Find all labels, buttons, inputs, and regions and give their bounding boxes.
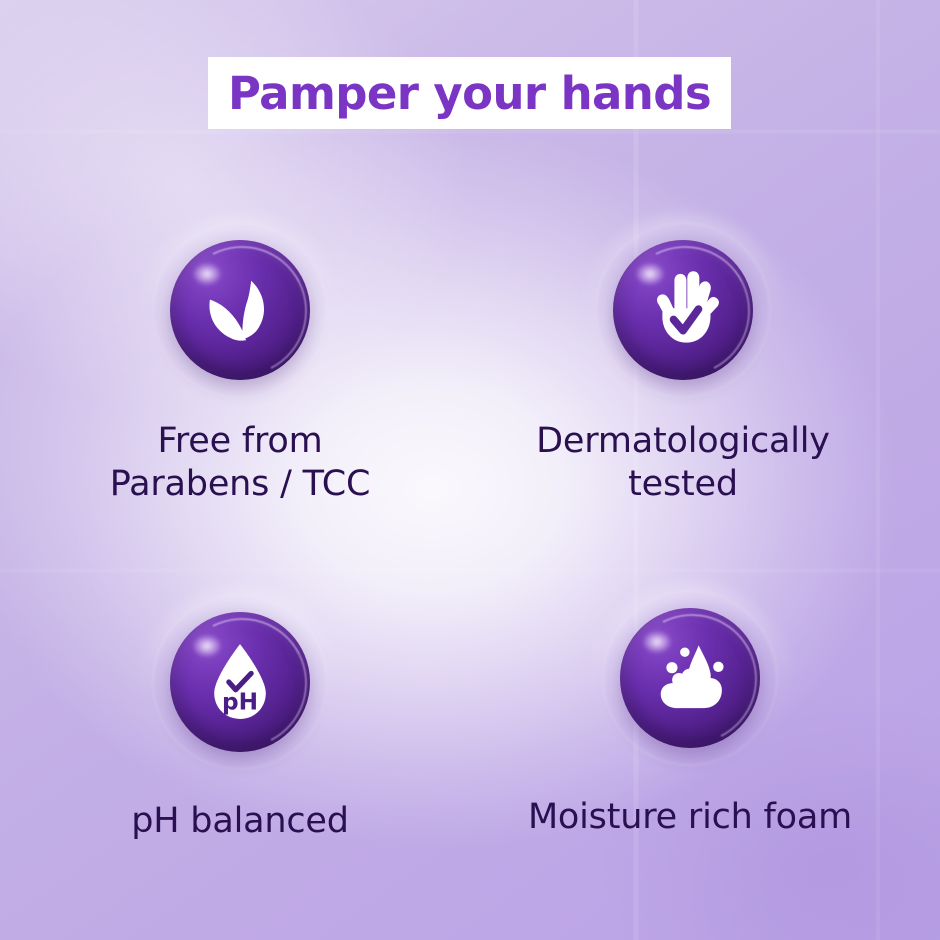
icon-bubble xyxy=(152,222,328,398)
feature-label: pH balanced xyxy=(131,800,348,843)
icon-sphere xyxy=(620,608,760,748)
feature-label: Free from Parabens / TCC xyxy=(110,420,370,505)
icon-sphere xyxy=(613,240,753,380)
feature-item-free-from-parabens: Free from Parabens / TCC xyxy=(25,222,455,505)
poster-canvas: Pamper your hands Free from Parabens / T… xyxy=(0,0,940,940)
icon-sphere: pH xyxy=(170,612,310,752)
icon-bubble: pH xyxy=(152,594,328,770)
feature-label: Dermatologically tested xyxy=(536,420,830,505)
icon-bubble xyxy=(602,590,778,766)
droplet-ph-text: pH xyxy=(222,689,258,716)
icon-sphere xyxy=(170,240,310,380)
feature-label: Moisture rich foam xyxy=(528,796,852,839)
icon-bubble xyxy=(595,222,771,398)
title-banner: Pamper your hands xyxy=(208,57,731,129)
feature-item-dermatologically-tested: Dermatologically tested xyxy=(468,222,898,505)
feature-item-moisture-rich-foam: Moisture rich foam xyxy=(475,590,905,839)
hand-check-icon xyxy=(640,267,726,353)
page-title: Pamper your hands xyxy=(228,71,711,116)
foam-bubbles-icon xyxy=(647,635,733,721)
feature-item-ph-balanced: pH pH balanced xyxy=(25,594,455,843)
ph-droplet-icon: pH xyxy=(197,639,283,725)
leaves-icon xyxy=(197,267,283,353)
